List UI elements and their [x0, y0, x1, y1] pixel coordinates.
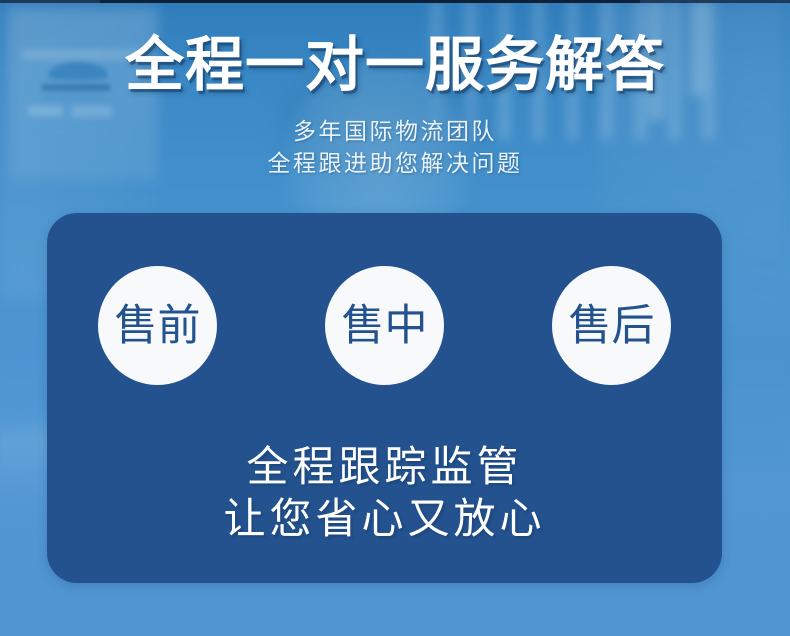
service-stage-after-sale-label: 售后	[569, 303, 655, 349]
panel-footer-block: 全程跟踪监管 让您省心又放心	[47, 441, 722, 545]
promo-banner: 全程一对一服务解答 多年国际物流团队 全程跟进助您解决问题 售前 售中 售后 全…	[0, 0, 790, 636]
panel-footer-line-1: 全程跟踪监管	[47, 441, 722, 493]
panel-footer-line-2: 让您省心又放心	[47, 493, 722, 545]
subtitle-block: 多年国际物流团队 全程跟进助您解决问题	[0, 116, 790, 180]
service-stage-in-sale[interactable]: 售中	[325, 266, 444, 385]
service-stage-after-sale[interactable]: 售后	[552, 266, 671, 385]
headline-text: 全程一对一服务解答	[125, 30, 665, 100]
service-stage-in-sale-label: 售中	[342, 303, 428, 349]
subtitle-line-2: 全程跟进助您解决问题	[0, 148, 790, 180]
service-stage-pre-sale-label: 售前	[115, 303, 201, 349]
subtitle-line-1: 多年国际物流团队	[0, 116, 790, 148]
headline-block: 全程一对一服务解答	[0, 30, 790, 100]
service-stage-row: 售前 售中 售后	[47, 266, 722, 385]
service-stage-pre-sale[interactable]: 售前	[98, 266, 217, 385]
top-edge-rule-center	[100, 0, 640, 3]
service-panel: 售前 售中 售后 全程跟踪监管 让您省心又放心	[47, 213, 722, 583]
